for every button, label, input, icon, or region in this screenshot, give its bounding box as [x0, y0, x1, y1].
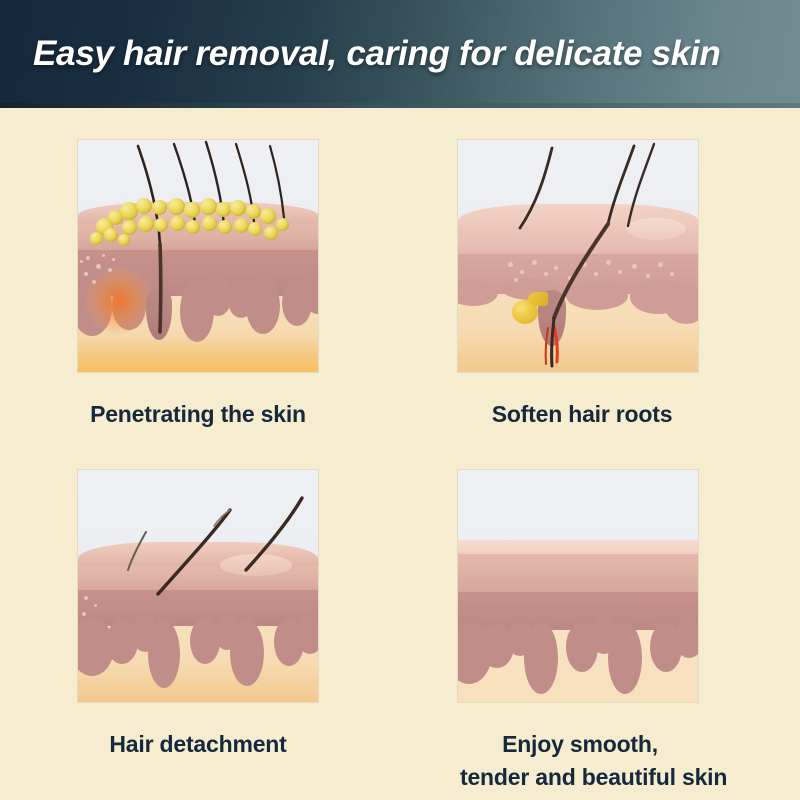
cream-bubble [138, 216, 154, 232]
card-caption: Penetrating the skin [78, 398, 318, 431]
hair-strand-detached [78, 470, 318, 702]
cream-bubble [230, 200, 246, 216]
cream-bubble [136, 198, 152, 214]
cream-bubble [122, 220, 137, 235]
cream-bubble [202, 216, 217, 231]
illustration-penetrating-the-skin [78, 140, 318, 372]
dermal-papilla [524, 622, 558, 694]
info-card-penetrating-the-skin: Penetrating the skin [78, 140, 318, 431]
header-banner: Easy hair removal, caring for delicate s… [0, 0, 800, 108]
cream-bubble [168, 198, 185, 215]
card-caption: Enjoy smooth, tender and beautiful skin [460, 728, 700, 795]
cream-bubble [154, 218, 168, 232]
card-caption: Soften hair roots [462, 398, 702, 431]
cream-bubble [216, 202, 231, 217]
cream-bubble [260, 208, 276, 224]
caption-line-1: Soften hair roots [492, 401, 673, 427]
cream-bubble [90, 232, 103, 245]
cream-bubble [170, 216, 185, 231]
illustration-enjoy-smooth-skin [458, 470, 698, 702]
skin-surface [458, 540, 698, 554]
cream-bubble [246, 204, 261, 219]
cream-bubble [200, 198, 217, 215]
caption-line-1: Penetrating the skin [90, 401, 306, 427]
dermal-papilla [608, 622, 642, 694]
cream-bubble [104, 228, 118, 242]
cream-bubble [248, 222, 262, 236]
cream-bubble [264, 226, 278, 240]
caption-line-1: Hair detachment [109, 731, 286, 757]
caption-line-1: Enjoy smooth, [460, 728, 700, 761]
cream-bubble [276, 218, 289, 231]
infographic-grid: Penetrating the skin [0, 108, 800, 800]
cream-bubble [184, 202, 200, 218]
cream-bubble [152, 200, 167, 215]
illustration-hair-detachment [78, 470, 318, 702]
cream-bubble [118, 234, 130, 246]
hair-strand [458, 140, 698, 372]
cream-bubble [186, 220, 200, 234]
cream-bubble [234, 218, 249, 233]
caption-line-2: tender and beautiful skin [460, 761, 700, 794]
info-card-soften-hair-roots: Soften hair roots [458, 140, 702, 431]
warm-base-gradient [78, 338, 318, 372]
card-caption: Hair detachment [78, 728, 318, 761]
dermal-papilla [674, 618, 698, 658]
illustration-soften-hair-roots [458, 140, 698, 372]
page-title: Easy hair removal, caring for delicate s… [33, 34, 720, 74]
cream-bubble [218, 220, 232, 234]
info-card-hair-detachment: Hair detachment [78, 470, 318, 761]
info-card-enjoy-smooth-skin: Enjoy smooth, tender and beautiful skin [458, 470, 700, 795]
